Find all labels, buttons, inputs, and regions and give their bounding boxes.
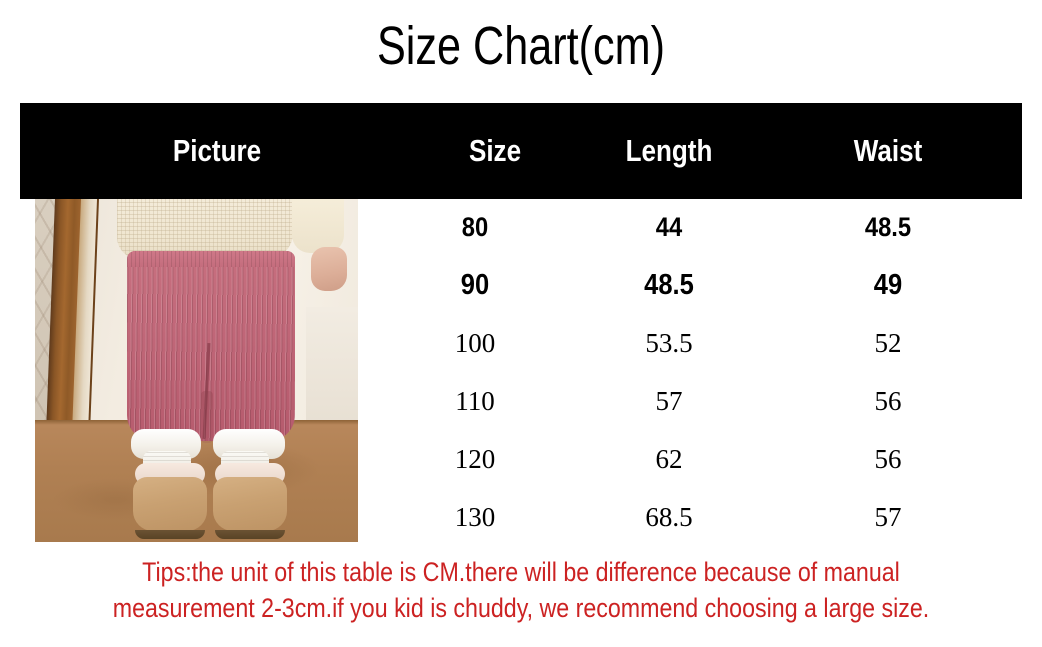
tips-note: Tips:the unit of this table is CM.there … (0, 554, 1042, 626)
cell-size: 120 (375, 437, 575, 481)
cell-waist: 49 (800, 263, 976, 307)
table-row: 100 53.5 52 (360, 321, 1022, 365)
cell-size: 90 (387, 263, 563, 307)
product-photo-scene (35, 199, 358, 542)
photo-corduroy-pants (127, 251, 295, 441)
table-row: 120 62 56 (360, 437, 1022, 481)
photo-pants-waistband (127, 251, 295, 267)
cell-waist: 56 (788, 379, 988, 423)
column-header-waist: Waist (804, 103, 972, 199)
photo-boot-sole (135, 530, 205, 539)
column-header-picture: Picture (133, 103, 301, 199)
cell-length: 57 (569, 379, 769, 423)
cell-waist: 56 (788, 437, 988, 481)
photo-pants-leg-gap (201, 391, 213, 443)
cell-waist: 52 (788, 321, 988, 365)
cell-length: 53.5 (569, 321, 769, 365)
photo-boot-right (213, 463, 287, 539)
photo-right-panel (306, 307, 358, 433)
cell-size: 110 (375, 379, 575, 423)
product-photo (35, 199, 358, 542)
cell-size: 100 (375, 321, 575, 365)
page-title: Size Chart(cm) (104, 14, 938, 78)
table-row: 90 48.5 49 (360, 263, 1022, 307)
photo-knit-sweater (117, 199, 293, 259)
photo-child-hand (311, 247, 347, 291)
tips-line-1: Tips:the unit of this table is CM.there … (73, 554, 969, 590)
tips-line-2: measurement 2-3cm.if you kid is chuddy, … (73, 590, 969, 626)
table-row: 130 68.5 57 (360, 495, 1022, 539)
cell-length: 68.5 (569, 495, 769, 539)
photo-boot-body (213, 477, 287, 531)
table-row: 110 57 56 (360, 379, 1022, 423)
cell-size: 130 (375, 495, 575, 539)
photo-boot-sole (215, 530, 285, 539)
photo-boot-body (133, 477, 207, 531)
photo-sweater-sleeve (292, 199, 344, 253)
column-header-size: Size (411, 103, 579, 199)
cell-length: 44 (581, 205, 757, 249)
table-row: 80 44 48.5 (360, 205, 1022, 249)
cell-size: 80 (387, 205, 563, 249)
cell-waist: 48.5 (800, 205, 976, 249)
photo-boot-left (133, 463, 207, 539)
size-table-body: 80 44 48.5 90 48.5 49 100 53.5 52 110 57… (360, 199, 1022, 542)
column-header-length: Length (585, 103, 753, 199)
cell-length: 48.5 (581, 263, 757, 307)
cell-waist: 57 (788, 495, 988, 539)
table-header-row: Picture Size Length Waist (20, 103, 1022, 199)
cell-length: 62 (569, 437, 769, 481)
